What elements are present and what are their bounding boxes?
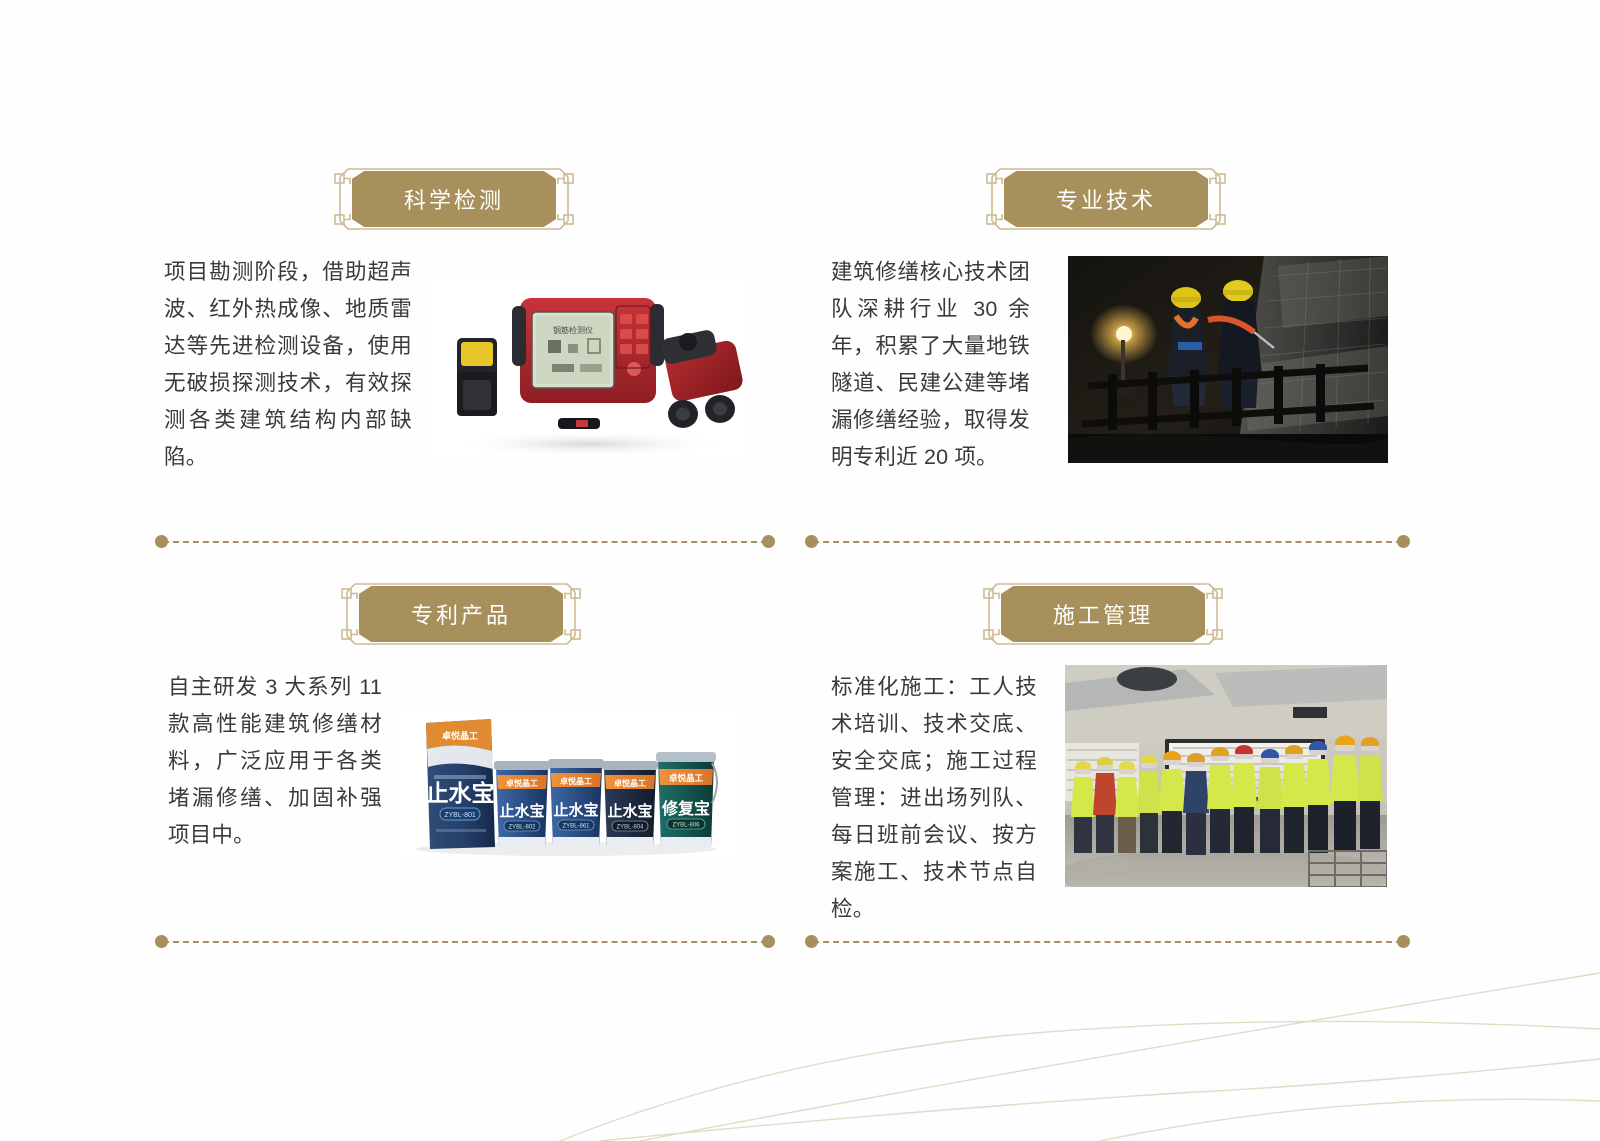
svg-text:止水宝: 止水宝 xyxy=(499,802,544,820)
section-divider-4 xyxy=(805,935,1410,949)
divider-dot-right xyxy=(762,935,775,948)
svg-text:ZYBL-861: ZYBL-861 xyxy=(562,824,590,830)
section-divider-3 xyxy=(155,935,775,949)
section-title-text: 专业技术 xyxy=(1056,183,1156,215)
svg-text:卓悦晶工: 卓悦晶工 xyxy=(560,776,592,786)
section-title-plate: 专利产品 xyxy=(359,586,563,642)
section-content-4: 标准化施工：工人技术培训、技术交底、安全交底；施工过程管理：进出场列队、每日班前… xyxy=(805,669,1445,928)
section-title-badge-3: 专利产品 xyxy=(150,575,790,653)
svg-text:ZYBL-802: ZYBL-802 xyxy=(508,825,536,831)
svg-text:卓悦晶工: 卓悦晶工 xyxy=(669,773,704,783)
svg-text:止水宝: 止水宝 xyxy=(426,780,495,806)
section-title-plate: 专业技术 xyxy=(1004,171,1208,227)
section-content-1: 项目勘测阶段，借助超声波、红外热成像、地质雷达等先进检测设备，使用无破损探测技术… xyxy=(150,254,790,476)
svg-text:止水宝: 止水宝 xyxy=(607,802,652,820)
brochure-page: 科学检测 项目勘测阶段，借助超声波、红外热成像、地质雷达等先进检测设备，使用无破… xyxy=(0,0,1600,1141)
tunnel-grouting-photo xyxy=(1068,256,1388,463)
svg-text:钢筋检测仪: 钢筋检测仪 xyxy=(553,325,593,335)
section-title-badge-4: 施工管理 xyxy=(805,575,1445,653)
section-title-badge-1: 科学检测 xyxy=(150,160,790,238)
section-body-text: 标准化施工：工人技术培训、技术交底、安全交底；施工过程管理：进出场列队、每日班前… xyxy=(805,669,1037,928)
section-professional-technology: 专业技术 建筑修缮核心技术团队深耕行业 30 余年，积累了大量地铁隧道、民建公建… xyxy=(805,160,1445,560)
svg-text:ZYBL-806: ZYBL-806 xyxy=(672,823,700,829)
section-construction-management: 施工管理 标准化施工：工人技术培训、技术交底、安全交底；施工过程管理：进出场列队… xyxy=(805,575,1445,955)
section-content-3: 自主研发 3 大系列 11 款高性能建筑修缮材料，广泛应用于各类堵漏修缮、加固补… xyxy=(150,669,790,857)
svg-text:止水宝: 止水宝 xyxy=(553,801,598,819)
section-body-text: 自主研发 3 大系列 11 款高性能建筑修缮材料，广泛应用于各类堵漏修缮、加固补… xyxy=(150,669,382,854)
section-title-badge-2: 专业技术 xyxy=(805,160,1445,238)
section-scientific-detection: 科学检测 项目勘测阶段，借助超声波、红外热成像、地质雷达等先进检测设备，使用无破… xyxy=(150,160,790,560)
divider-dot-right xyxy=(762,535,775,548)
divider-dashed-line xyxy=(163,541,767,543)
divider-dot-right xyxy=(1397,535,1410,548)
section-title-plate: 科学检测 xyxy=(352,171,556,227)
divider-dot-right xyxy=(1397,935,1410,948)
svg-text:卓悦晶工: 卓悦晶工 xyxy=(442,730,478,741)
section-title-plate: 施工管理 xyxy=(1001,586,1205,642)
decorative-curves xyxy=(0,941,1600,1141)
section-title-text: 施工管理 xyxy=(1053,598,1153,630)
svg-text:卓悦晶工: 卓悦晶工 xyxy=(506,778,538,788)
svg-text:ZYBL-801: ZYBL-801 xyxy=(444,812,476,819)
svg-text:ZYBL-804: ZYBL-804 xyxy=(616,825,644,831)
section-content-2: 建筑修缮核心技术团队深耕行业 30 余年，积累了大量地铁隧道、民建公建等堵漏修缮… xyxy=(805,254,1445,476)
section-title-text: 科学检测 xyxy=(404,183,504,215)
divider-dashed-line xyxy=(813,541,1402,543)
section-title-text: 专利产品 xyxy=(411,598,511,630)
divider-dashed-line xyxy=(813,941,1402,943)
svg-text:卓悦晶工: 卓悦晶工 xyxy=(614,778,646,788)
section-patent-products: 专利产品 自主研发 3 大系列 11 款高性能建筑修缮材料，广泛应用于各类堵漏修… xyxy=(150,575,790,955)
product-lineup-photo: 卓悦晶工 止水宝 ZYBL-801 卓悦晶工 止水宝 xyxy=(396,707,736,857)
svg-text:修复宝: 修复宝 xyxy=(661,799,710,818)
section-divider-1 xyxy=(155,535,775,549)
section-divider-2 xyxy=(805,535,1410,549)
section-body-text: 建筑修缮核心技术团队深耕行业 30 余年，积累了大量地铁隧道、民建公建等堵漏修缮… xyxy=(805,254,1030,476)
detection-device-photo: 钢筋检测仪 xyxy=(430,276,750,461)
section-body-text: 项目勘测阶段，借助超声波、红外热成像、地质雷达等先进检测设备，使用无破损探测技术… xyxy=(150,254,412,476)
team-lineup-photo xyxy=(1065,665,1387,887)
divider-dashed-line xyxy=(163,941,767,943)
